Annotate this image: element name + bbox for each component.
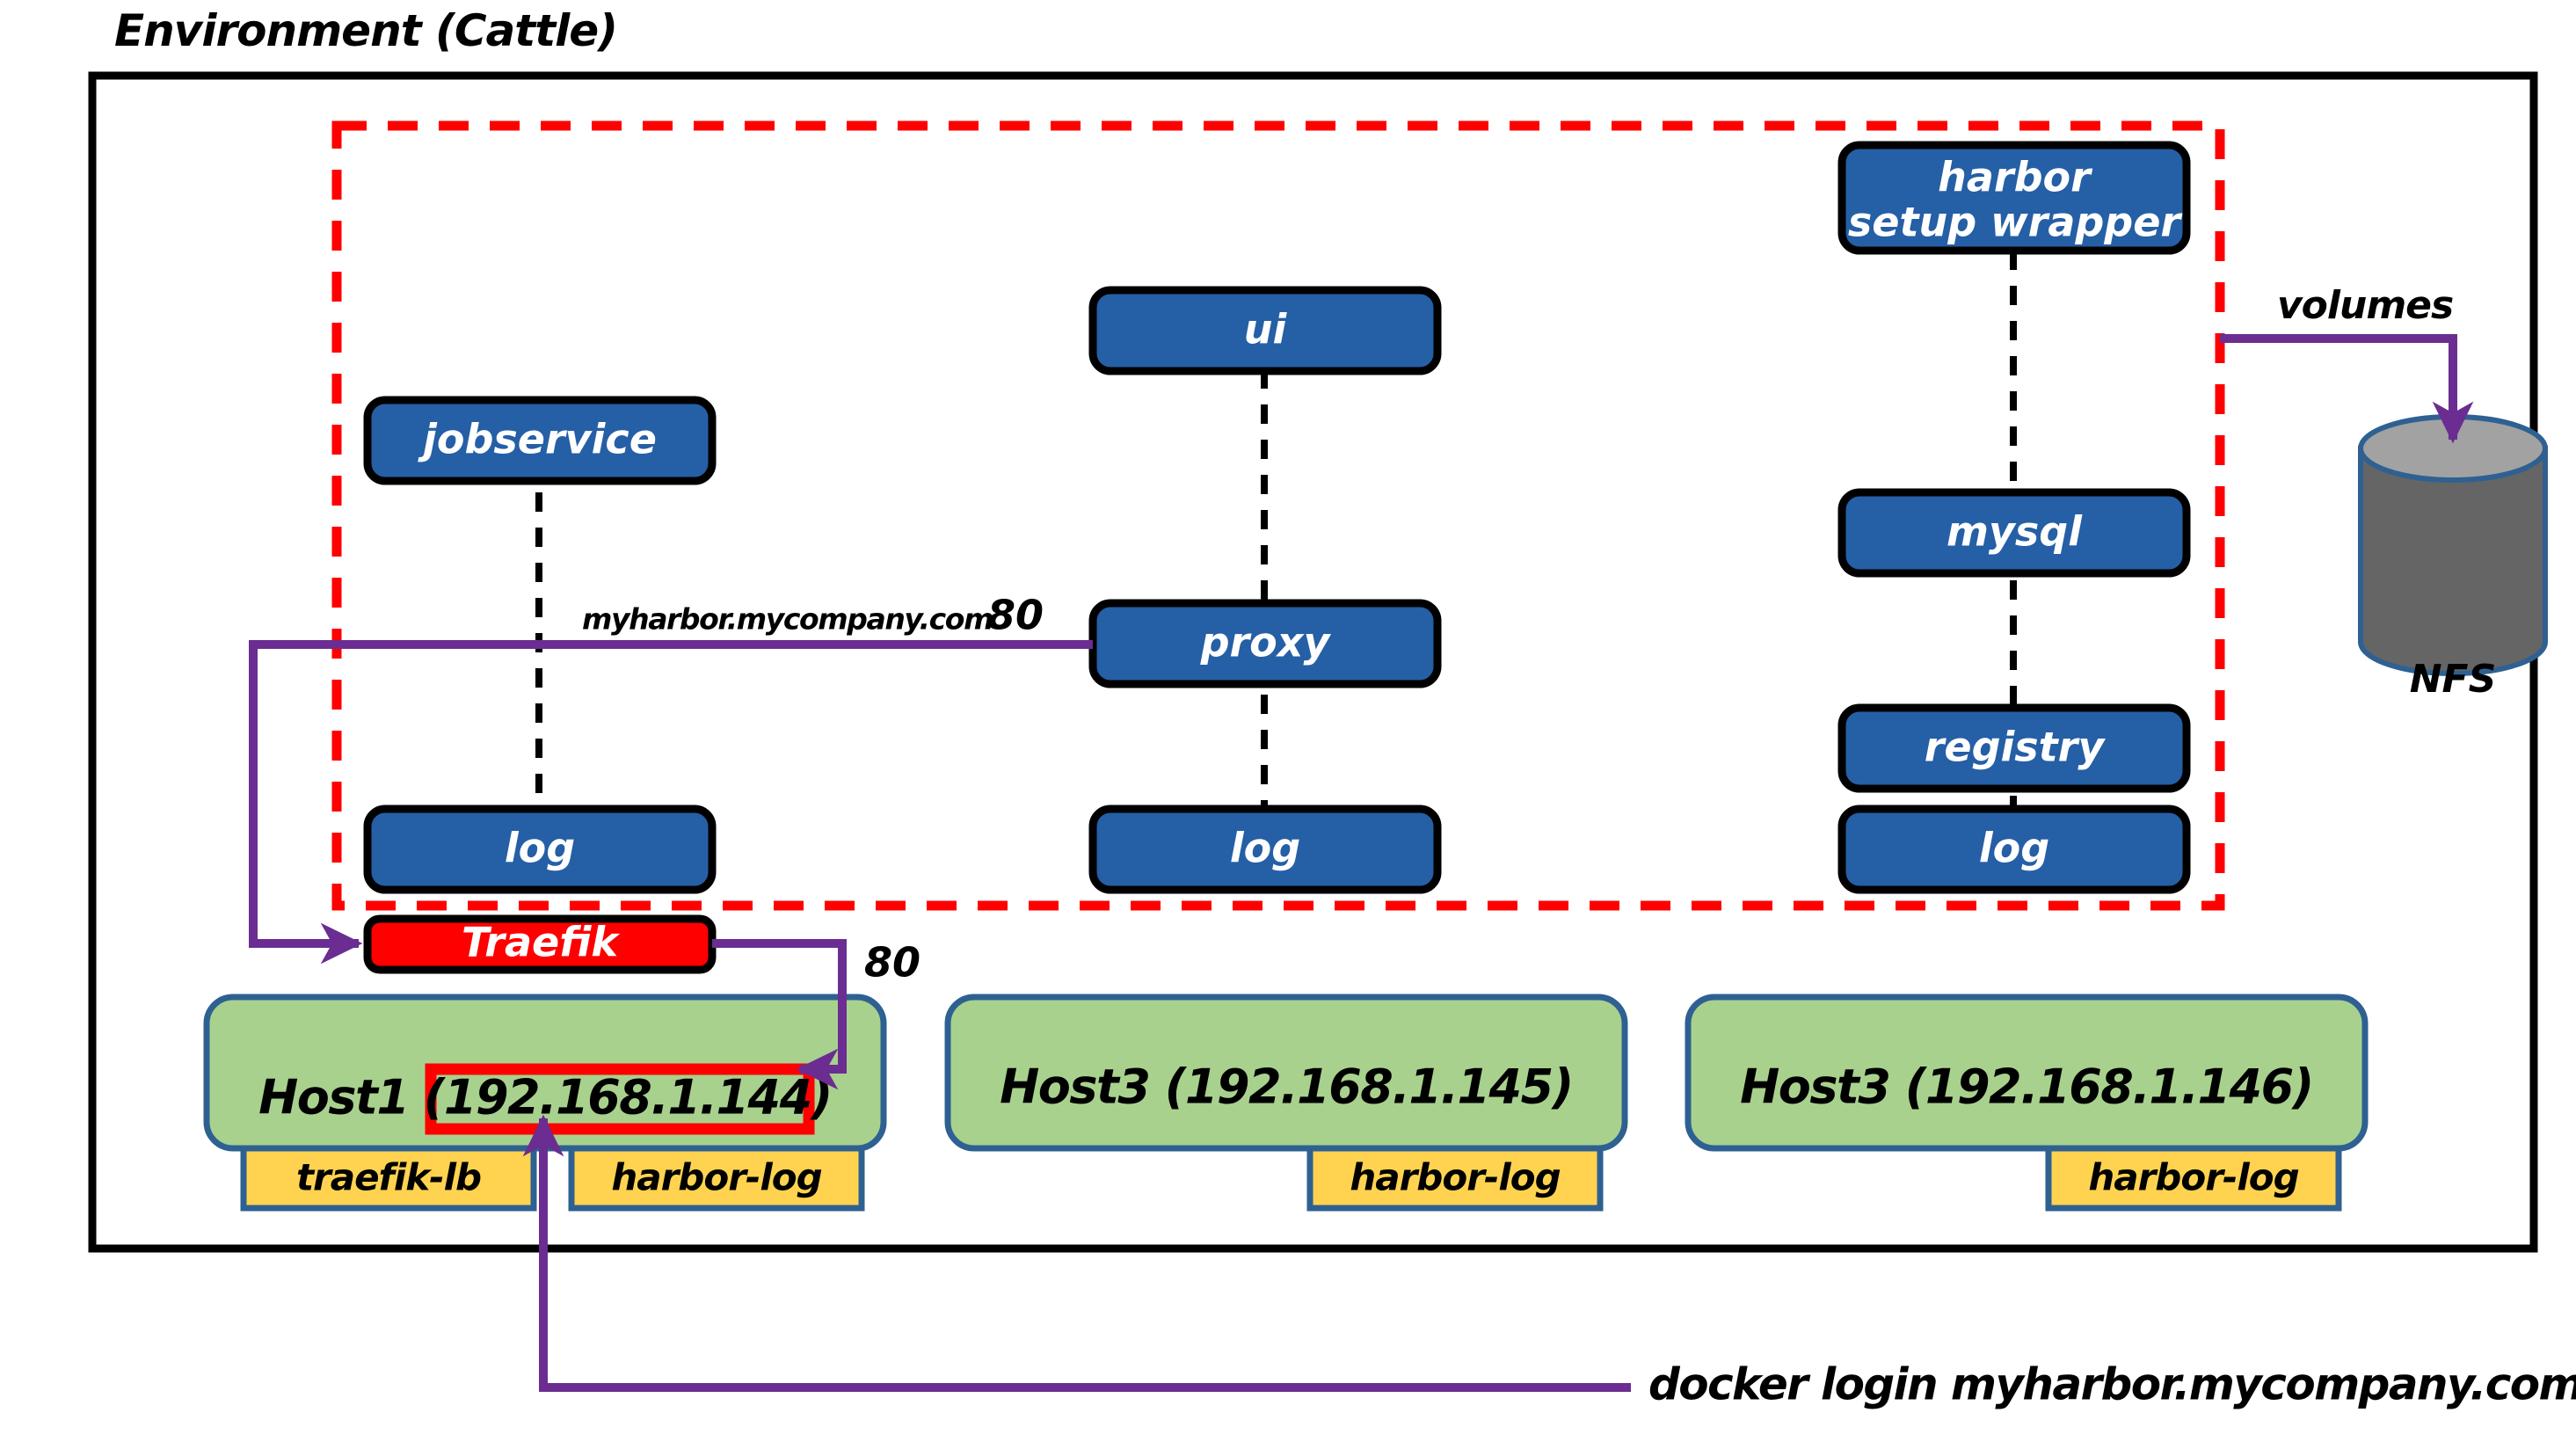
volumes-label: volumes bbox=[2277, 283, 2453, 328]
chip-label: harbor-log bbox=[611, 1156, 821, 1199]
flow-proxy-to-traefik bbox=[253, 644, 1093, 943]
chip-traefik-lb[interactable]: traefik-lb bbox=[244, 1148, 534, 1208]
service-log-registry[interactable]: log bbox=[1842, 809, 2187, 890]
chip-harbor-log-3[interactable]: harbor-log bbox=[2048, 1148, 2339, 1208]
service-log-proxy[interactable]: log bbox=[1093, 809, 1437, 890]
service-label: registry bbox=[1925, 724, 2107, 771]
service-registry[interactable]: registry bbox=[1842, 708, 2187, 789]
page-title: Environment (Cattle) bbox=[114, 5, 617, 56]
host-name: Host1 (192.168.1.144) bbox=[258, 1070, 832, 1125]
port-label-proxy: 80 bbox=[987, 592, 1044, 639]
diagram-canvas: Environment (Cattle) harbor setup wrappe… bbox=[0, 0, 2576, 1449]
service-mysql[interactable]: mysql bbox=[1842, 492, 2187, 573]
nfs-label: NFS bbox=[2410, 657, 2497, 702]
chip-label: harbor-log bbox=[2088, 1156, 2298, 1199]
chip-label: traefik-lb bbox=[296, 1156, 481, 1199]
host-name: Host3 (192.168.1.146) bbox=[1740, 1059, 2313, 1115]
architecture-diagram: Environment (Cattle) harbor setup wrappe… bbox=[0, 0, 2576, 1449]
nfs-storage: NFS bbox=[2361, 417, 2545, 702]
service-label: ui bbox=[1244, 306, 1288, 353]
service-label: log bbox=[1979, 825, 2049, 872]
service-label: proxy bbox=[1200, 619, 1332, 666]
service-label: log bbox=[1230, 825, 1300, 872]
service-ui[interactable]: ui bbox=[1093, 290, 1437, 371]
service-label: log bbox=[505, 825, 575, 872]
service-label: jobservice bbox=[418, 416, 657, 463]
service-log-jobservice[interactable]: log bbox=[367, 809, 712, 890]
chip-harbor-log-2[interactable]: harbor-log bbox=[1310, 1148, 1600, 1208]
service-proxy[interactable]: proxy bbox=[1093, 603, 1437, 684]
domain-label: myharbor.mycompany.com bbox=[582, 602, 993, 637]
chip-label: harbor-log bbox=[1350, 1156, 1560, 1199]
service-harbor-setup-wrapper[interactable]: harbor setup wrapper bbox=[1842, 145, 2187, 251]
service-label-line1: harbor bbox=[1938, 154, 2093, 201]
traefik-label: Traefik bbox=[462, 919, 620, 966]
host-name: Host3 (192.168.1.145) bbox=[1000, 1059, 1573, 1115]
service-traefik[interactable]: Traefik bbox=[367, 919, 712, 971]
docker-login-label: docker login myharbor.mycompany.com:80 bbox=[1648, 1359, 2576, 1410]
chip-harbor-log-1[interactable]: harbor-log bbox=[571, 1148, 862, 1208]
host-card-2[interactable]: Host3 (192.168.1.145) harbor-log bbox=[948, 997, 1625, 1208]
service-label-line2: setup wrapper bbox=[1848, 199, 2184, 246]
service-jobservice[interactable]: jobservice bbox=[367, 400, 712, 481]
service-label: mysql bbox=[1947, 508, 2083, 556]
host-card-3[interactable]: Host3 (192.168.1.146) harbor-log bbox=[1688, 997, 2365, 1208]
port-label-traefik: 80 bbox=[864, 939, 921, 987]
